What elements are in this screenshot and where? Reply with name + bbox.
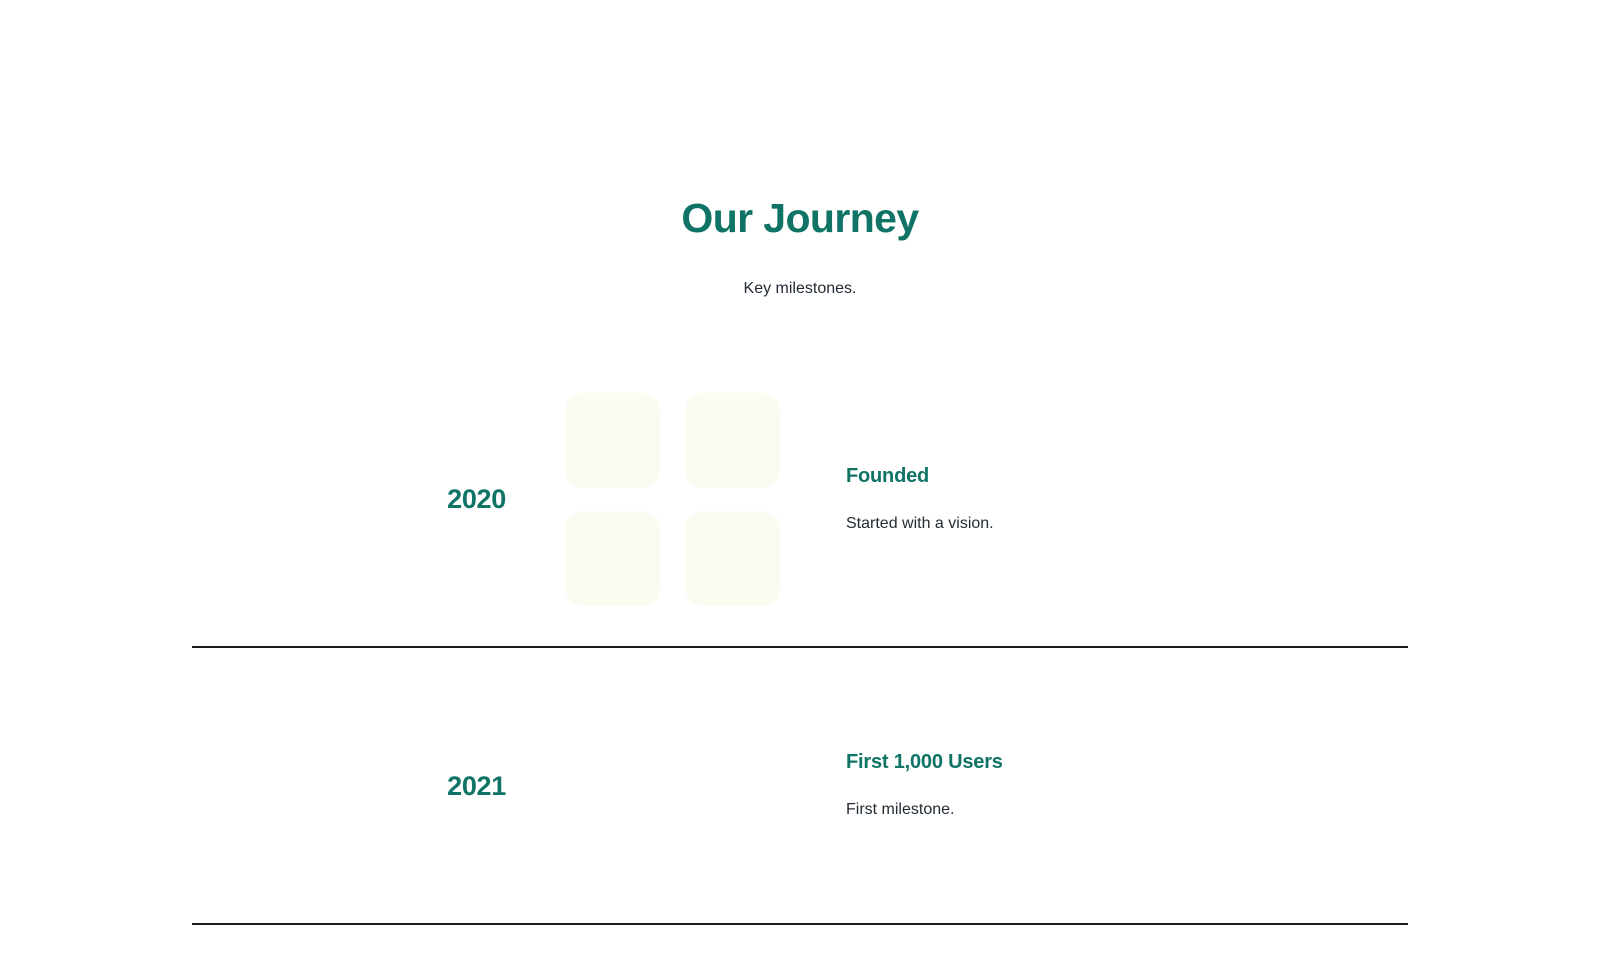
timeline-entry: 2020 Founded Started with a vision. (192, 352, 1408, 648)
timeline-description: Started with a vision. (846, 490, 1408, 536)
tile-bottom-right-icon (685, 511, 780, 606)
timeline-body-cell: First 1,000 Users First milestone. (822, 648, 1408, 923)
section-header: Our Journey Key milestones. (0, 192, 1600, 301)
timeline-heading: Founded (846, 463, 1408, 490)
tile-top-right-icon (685, 393, 780, 488)
decorative-tile-grid (565, 393, 780, 606)
page-subtitle: Key milestones. (0, 244, 1600, 301)
timeline-media-cell (522, 648, 822, 923)
timeline-body-cell: Founded Started with a vision. (822, 352, 1408, 646)
journey-page: Our Journey Key milestones. 2020 Founded… (0, 0, 1600, 978)
tile-top-left-icon (565, 393, 660, 488)
timeline-year-cell: 2021 (192, 648, 522, 923)
timeline-year-cell: 2020 (192, 352, 522, 646)
timeline-heading: First 1,000 Users (846, 749, 1408, 776)
tile-bottom-left-icon (565, 511, 660, 606)
timeline: 2020 Founded Started with a vision. 2021 (192, 352, 1408, 925)
timeline-media-cell (522, 352, 822, 646)
page-title: Our Journey (0, 192, 1600, 244)
timeline-entry: 2021 First 1,000 Users First milestone. (192, 648, 1408, 925)
timeline-description: First milestone. (846, 776, 1408, 822)
timeline-year: 2021 (447, 769, 506, 803)
timeline-year: 2020 (447, 482, 506, 516)
